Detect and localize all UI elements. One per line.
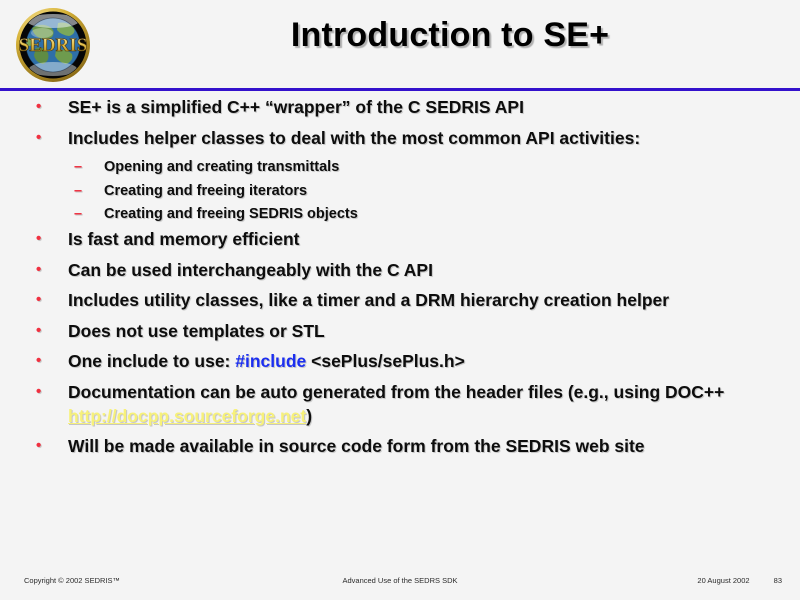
bullet-text: Can be used interchangeably with the C A…	[68, 260, 433, 280]
bullet-text: Creating and freeing iterators	[104, 183, 307, 199]
slide-footer: Copyright © 2002 SEDRIS™ Advanced Use of…	[0, 566, 800, 600]
bullet-dot-icon: •	[36, 96, 41, 118]
docpp-link[interactable]: http://docpp.sourceforge.net	[68, 406, 306, 426]
bullet-dot-icon: •	[36, 127, 41, 149]
footer-deck-title: Advanced Use of the SEDRS SDK	[0, 576, 800, 585]
bullet-text: <sePlus/sePlus.h>	[306, 351, 465, 371]
footer-date: 20 August 2002	[697, 576, 749, 585]
bullet-item: •Is fast and memory efficient	[0, 228, 800, 252]
sedris-globe-logo: SEDRIS	[8, 6, 106, 84]
bullet-dash-icon: –	[74, 204, 82, 225]
bullet-text: Will be made available in source code fo…	[68, 436, 645, 456]
bullet-item: •Can be used interchangeably with the C …	[0, 259, 800, 283]
bullet-dot-icon: •	[36, 228, 41, 250]
bullet-item: •Will be made available in source code f…	[0, 435, 800, 459]
sub-bullet-item: –Opening and creating transmittals	[0, 157, 800, 178]
bullet-text: Does not use templates or STL	[68, 321, 325, 341]
bullet-text: SE+ is a simplified C++ “wrapper” of the…	[68, 97, 524, 117]
bullet-dot-icon: •	[36, 435, 41, 457]
slide-content: •SE+ is a simplified C++ “wrapper” of th…	[0, 96, 800, 466]
bullet-text: Includes helper classes to deal with the…	[68, 128, 640, 148]
bullet-item: •Does not use templates or STL	[0, 320, 800, 344]
sedris-wordmark: SEDRIS	[19, 35, 88, 56]
bullet-text: One include to use:	[68, 351, 235, 371]
bullet-text: Opening and creating transmittals	[104, 159, 339, 175]
sub-bullet-item: –Creating and freeing iterators	[0, 181, 800, 202]
footer-date-page: 20 August 2002 83	[697, 576, 782, 585]
bullet-text: Creating and freeing SEDRIS objects	[104, 206, 358, 222]
bullet-dot-icon: •	[36, 381, 41, 403]
bullet-text: Is fast and memory efficient	[68, 229, 299, 249]
bullet-item: •SE+ is a simplified C++ “wrapper” of th…	[0, 96, 800, 120]
bullet-text: )	[306, 406, 312, 426]
title-divider	[0, 88, 800, 91]
page-title: Introduction to SE+	[120, 16, 780, 55]
bullet-dot-icon: •	[36, 259, 41, 281]
bullet-item: •Includes utility classes, like a timer …	[0, 289, 800, 313]
footer-page-number: 83	[774, 576, 782, 585]
slide-header: SEDRIS Introduction to SE+	[0, 0, 800, 90]
include-keyword: #include	[235, 351, 306, 371]
bullet-item: •One include to use: #include <sePlus/se…	[0, 350, 800, 374]
bullet-dot-icon: •	[36, 350, 41, 372]
bullet-text: Includes utility classes, like a timer a…	[68, 290, 669, 310]
bullet-dot-icon: •	[36, 320, 41, 342]
bullet-dash-icon: –	[74, 181, 82, 202]
bullet-text: Documentation can be auto generated from…	[68, 382, 724, 402]
bullet-item: •Includes helper classes to deal with th…	[0, 127, 800, 151]
sub-bullet-item: –Creating and freeing SEDRIS objects	[0, 204, 800, 225]
bullet-item: •Documentation can be auto generated fro…	[0, 381, 800, 428]
bullet-dot-icon: •	[36, 289, 41, 311]
bullet-dash-icon: –	[74, 157, 82, 178]
